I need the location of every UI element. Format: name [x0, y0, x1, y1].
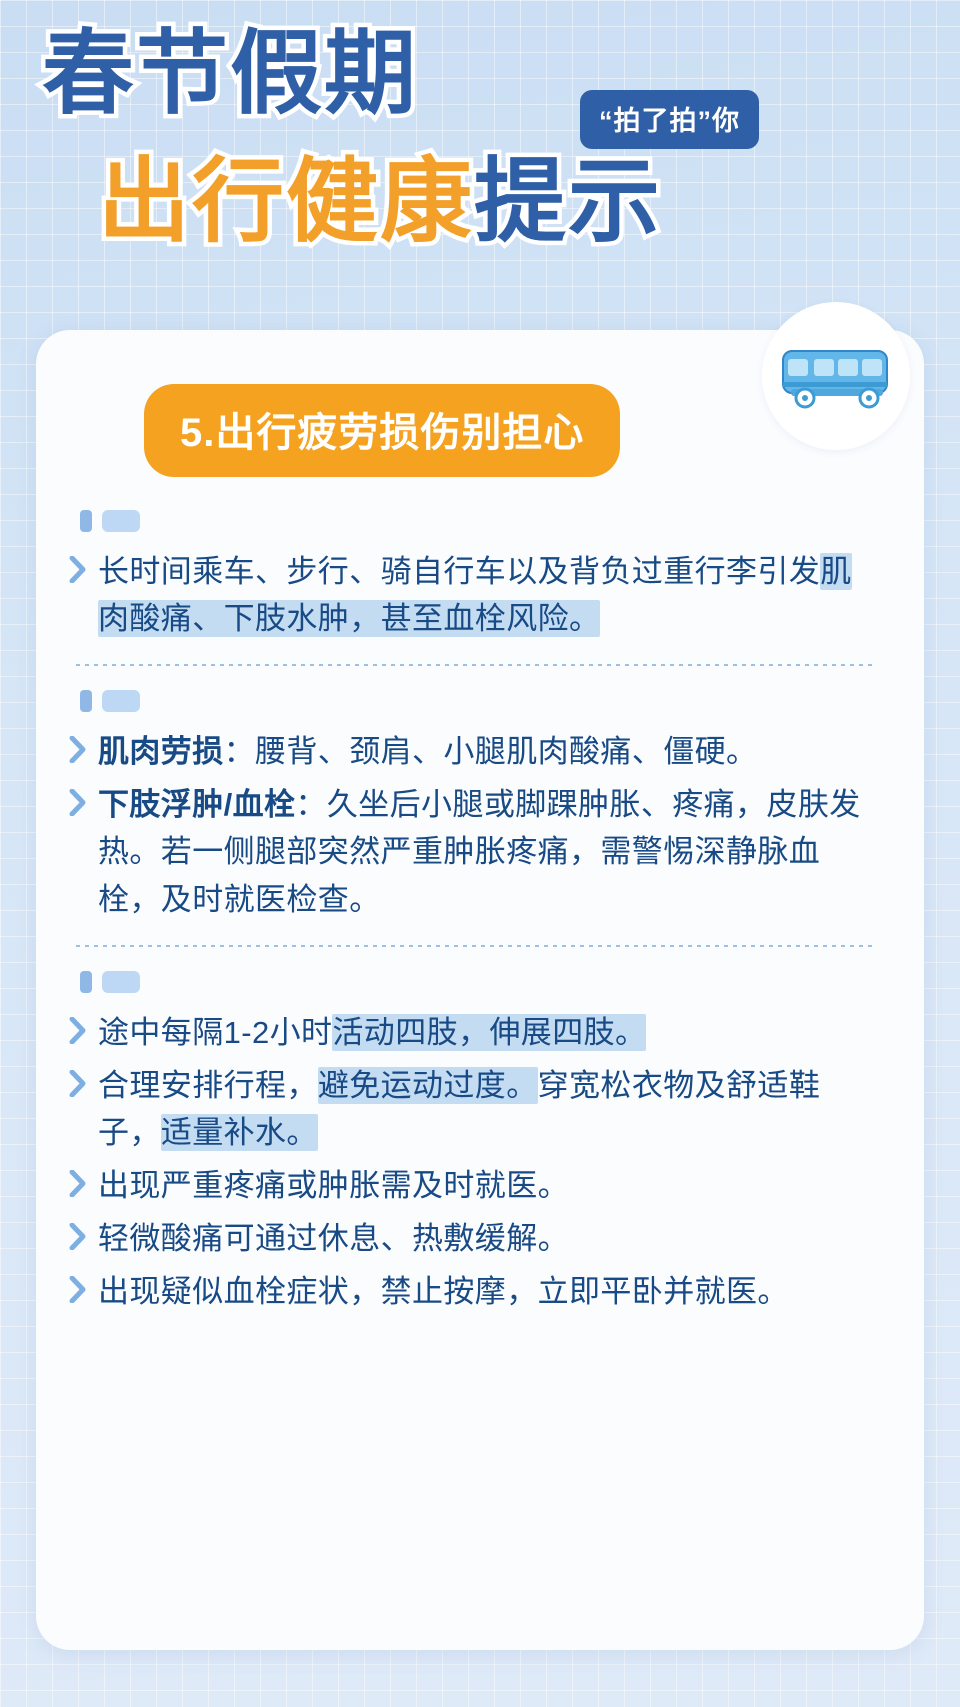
section-accent-bar [80, 971, 92, 993]
list-item: 肌肉劳损：腰背、颈肩、小腿肌肉酸痛、僵硬。 [58, 728, 890, 775]
chevron-right-icon [58, 1009, 98, 1050]
poster-title-line-2: 出行健康提示 [98, 150, 662, 256]
list-item: 长时间乘车、步行、骑自行车以及背负过重行李引发肌肉酸痛、下肢水肿，甚至血栓风险。 [58, 548, 890, 642]
pat-badge: “拍了拍”你 [580, 90, 759, 149]
bullet-list: 途中每隔1-2小时活动四肢，伸展四肢。合理安排行程，避免运动过度。穿宽松衣物及舒… [58, 1009, 890, 1316]
section-heading [80, 510, 140, 532]
text-run-highlight: 活动四肢，伸展四肢。 [332, 1014, 646, 1051]
list-item: 合理安排行程，避免运动过度。穿宽松衣物及舒适鞋子，适量补水。 [58, 1062, 890, 1156]
text-run-plain: 出现严重疼痛或肿胀需及时就医。 [98, 1168, 569, 1203]
poster-title-line-2-blue: 提示 [474, 151, 662, 253]
chevron-right-icon [58, 781, 98, 822]
list-item-text: 途中每隔1-2小时活动四肢，伸展四肢。 [98, 1009, 882, 1056]
chevron-right-icon [58, 1268, 98, 1309]
text-run-plain: 轻微酸痛可通过休息、热敷缓解。 [98, 1221, 569, 1256]
list-item: 出现严重疼痛或肿胀需及时就医。 [58, 1162, 890, 1209]
chevron-right-icon [58, 548, 98, 589]
list-item: 出现疑似血栓症状，禁止按摩，立即平卧并就医。 [58, 1268, 890, 1315]
section-heading-label [102, 690, 140, 712]
bus-medallion [762, 302, 910, 450]
list-item-text: 长时间乘车、步行、骑自行车以及背负过重行李引发肌肉酸痛、下肢水肿，甚至血栓风险。 [98, 548, 882, 642]
text-run-plain: ：腰背、颈肩、小腿肌肉酸痛、僵硬。 [224, 734, 758, 769]
list-item: 途中每隔1-2小时活动四肢，伸展四肢。 [58, 1009, 890, 1056]
section-accent-bar [80, 690, 92, 712]
content-section: 肌肉劳损：腰背、颈肩、小腿肌肉酸痛、僵硬。下肢浮肿/血栓：久坐后小腿或脚踝肿胀、… [58, 690, 890, 922]
card-body: 长时间乘车、步行、骑自行车以及背负过重行李引发肌肉酸痛、下肢水肿，甚至血栓风险。… [36, 510, 924, 1321]
text-run-plain: 合理安排行程， [98, 1068, 318, 1103]
section-divider [76, 664, 872, 666]
chevron-right-icon [58, 1162, 98, 1203]
content-section: 长时间乘车、步行、骑自行车以及背负过重行李引发肌肉酸痛、下肢水肿，甚至血栓风险。 [58, 510, 890, 642]
bullet-list: 肌肉劳损：腰背、颈肩、小腿肌肉酸痛、僵硬。下肢浮肿/血栓：久坐后小腿或脚踝肿胀、… [58, 728, 890, 922]
list-item-text: 下肢浮肿/血栓：久坐后小腿或脚踝肿胀、疼痛，皮肤发热。若一侧腿部突然严重肿胀疼痛… [98, 781, 882, 922]
section-accent-bar [80, 510, 92, 532]
section-pill-title: 5.出行疲劳损伤别担心 [144, 384, 620, 477]
list-item-text: 肌肉劳损：腰背、颈肩、小腿肌肉酸痛、僵硬。 [98, 728, 882, 775]
bus-icon [777, 337, 895, 415]
section-divider [76, 945, 872, 947]
section-heading [80, 971, 140, 993]
list-item-text: 合理安排行程，避免运动过度。穿宽松衣物及舒适鞋子，适量补水。 [98, 1062, 882, 1156]
text-run-plain: 出现疑似血栓症状，禁止按摩，立即平卧并就医。 [98, 1274, 789, 1309]
section-heading-label [102, 971, 140, 993]
text-run-bold: 肌肉劳损 [98, 734, 224, 769]
list-item-text: 出现严重疼痛或肿胀需及时就医。 [98, 1162, 882, 1209]
section-heading-label [102, 510, 140, 532]
poster-header: 春节假期 “拍了拍”你 出行健康提示 [0, 0, 960, 330]
content-card: 5.出行疲劳损伤别担心 长时间乘车、步行、骑自行车以及背负过重行李引发肌肉酸痛、… [36, 330, 924, 1650]
chevron-right-icon [58, 1215, 98, 1256]
text-run-plain: 途中每隔1-2小时 [98, 1015, 332, 1050]
list-item-text: 轻微酸痛可通过休息、热敷缓解。 [98, 1215, 882, 1262]
text-run-highlight: 避免运动过度。 [318, 1067, 538, 1104]
list-item-text: 出现疑似血栓症状，禁止按摩，立即平卧并就医。 [98, 1268, 882, 1315]
content-section: 途中每隔1-2小时活动四肢，伸展四肢。合理安排行程，避免运动过度。穿宽松衣物及舒… [58, 971, 890, 1316]
text-run-plain: 长时间乘车、步行、骑自行车以及背负过重行李引发 [98, 554, 820, 589]
poster-title-line-2-orange: 出行健康 [98, 151, 474, 253]
chevron-right-icon [58, 728, 98, 769]
list-item: 下肢浮肿/血栓：久坐后小腿或脚踝肿胀、疼痛，皮肤发热。若一侧腿部突然严重肿胀疼痛… [58, 781, 890, 922]
section-heading [80, 690, 140, 712]
chevron-right-icon [58, 1062, 98, 1103]
list-item: 轻微酸痛可通过休息、热敷缓解。 [58, 1215, 890, 1262]
poster-title-line-1: 春节假期 [42, 22, 418, 128]
text-run-bold: 下肢浮肿/血栓 [98, 787, 295, 822]
text-run-highlight: 适量补水。 [161, 1114, 318, 1151]
bullet-list: 长时间乘车、步行、骑自行车以及背负过重行李引发肌肉酸痛、下肢水肿，甚至血栓风险。 [58, 548, 890, 642]
